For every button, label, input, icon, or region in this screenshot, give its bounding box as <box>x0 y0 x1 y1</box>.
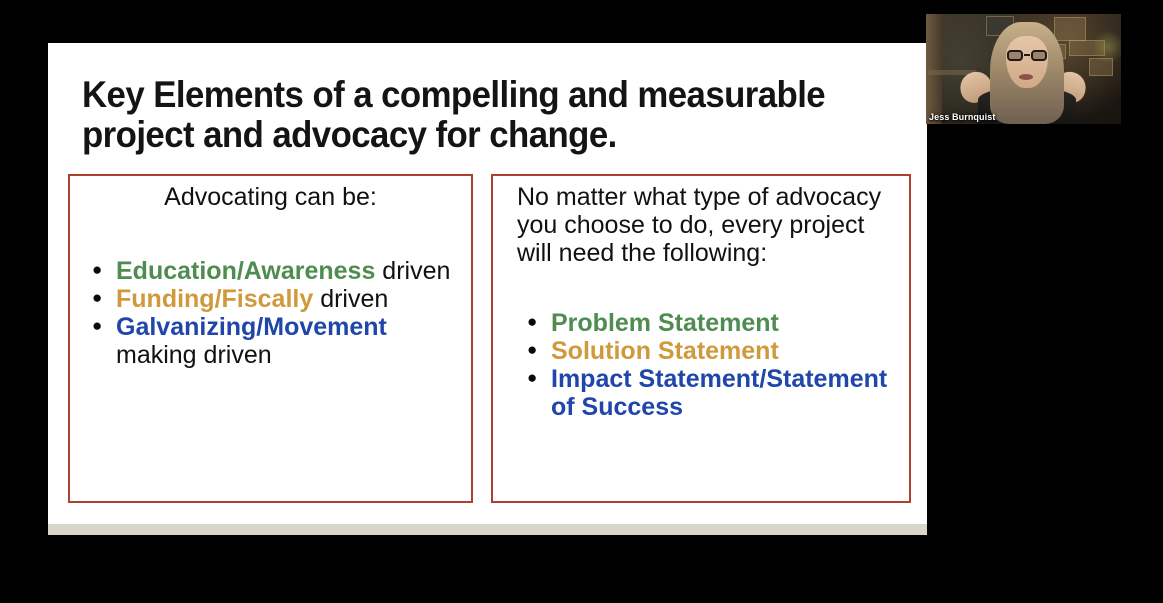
presentation-slide: Key Elements of a compelling and measura… <box>48 43 927 535</box>
list-item: Solution Statement <box>515 337 909 365</box>
bullet-rest: driven <box>375 257 450 285</box>
list-item: Impact Statement/Statement of Success <box>515 365 909 421</box>
bullet-keyword: Education/Awareness <box>116 257 375 285</box>
right-content-box: No matter what type of advocacy you choo… <box>491 174 911 503</box>
list-item: Galvanizing/Movement making driven <box>80 313 471 369</box>
background-door <box>926 14 942 124</box>
bullet-keyword: Funding/Fiscally <box>116 285 313 313</box>
left-bullet-list: Education/Awareness driven Funding/Fisca… <box>70 257 471 369</box>
background-picture-frame <box>1054 17 1086 41</box>
left-box-heading: Advocating can be: <box>70 176 471 211</box>
bullet-rest: making driven <box>116 341 272 369</box>
bullet-keyword: Problem Statement <box>551 309 779 337</box>
bullet-keyword: Solution Statement <box>551 337 779 365</box>
participant-mouth <box>1019 74 1033 80</box>
slide-accent-strip <box>48 524 927 535</box>
background-plant <box>1094 24 1121 70</box>
list-item: Funding/Fiscally driven <box>80 285 471 313</box>
bullet-keyword: Galvanizing/Movement <box>116 313 387 341</box>
eyeglasses-icon <box>1006 50 1048 62</box>
list-item: Problem Statement <box>515 309 909 337</box>
left-content-box: Advocating can be: Education/Awareness d… <box>68 174 473 503</box>
webcam-video-frame <box>926 14 1121 124</box>
screen-share-stage: Key Elements of a compelling and measura… <box>0 0 1163 603</box>
list-item: Education/Awareness driven <box>80 257 471 285</box>
webcam-video-tile[interactable]: Jess Burnquist <box>926 14 1121 124</box>
bullet-rest: driven <box>313 285 388 313</box>
right-bullet-list: Problem Statement Solution Statement Imp… <box>493 309 909 421</box>
participant-name-label: Jess Burnquist <box>929 112 995 122</box>
bullet-keyword: Impact Statement/Statement of Success <box>551 365 887 421</box>
right-box-heading: No matter what type of advocacy you choo… <box>493 176 909 267</box>
slide-title: Key Elements of a compelling and measura… <box>82 75 853 155</box>
